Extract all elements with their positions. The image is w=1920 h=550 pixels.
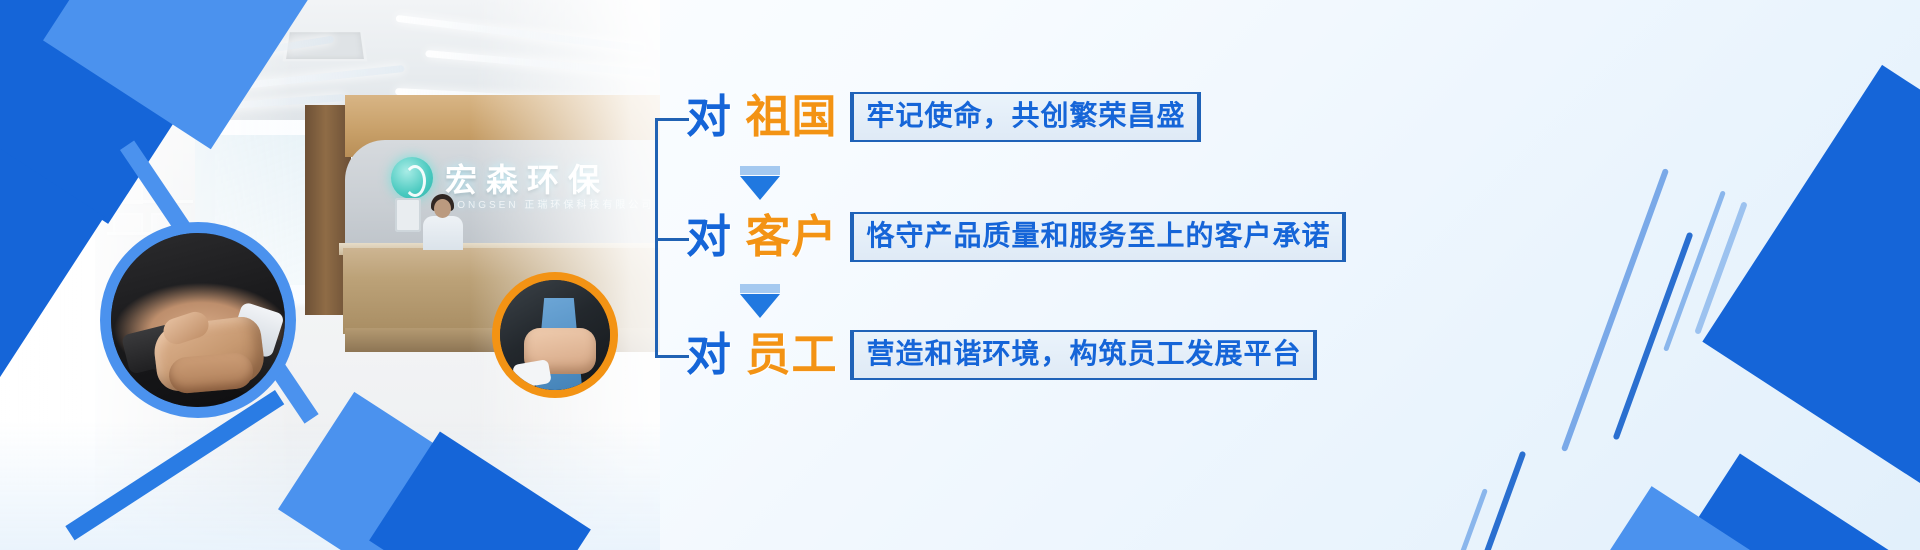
clapping-hands-photo-circle bbox=[492, 272, 618, 398]
philosophy-row-country: 对 祖国 牢记使命，共创繁荣昌盛 bbox=[686, 92, 1201, 142]
photo-collage: 宏森环保 HONGSEN 正瑞环保科技有限公司 bbox=[0, 0, 660, 550]
receptionist-head bbox=[434, 199, 451, 218]
row-prefix-label: 对 bbox=[686, 91, 732, 142]
globe-leaf-logo-icon bbox=[391, 157, 433, 199]
bracket-branch bbox=[655, 238, 689, 241]
handshake-photo-circle bbox=[100, 222, 296, 418]
philosophy-rows: 对 祖国 牢记使命，共创繁荣昌盛 对 客户 恪守产品质量和服务至上的客户承诺 对… bbox=[686, 0, 1920, 550]
row-statement-customer: 恪守产品质量和服务至上的客户承诺 bbox=[850, 212, 1346, 262]
receptionist-body bbox=[423, 216, 463, 250]
row-subject-label: 客户 bbox=[746, 211, 838, 262]
desk-monitor bbox=[395, 198, 421, 232]
row-statement-employee: 营造和谐环境，构筑员工发展平台 bbox=[850, 330, 1317, 380]
row-subject-label: 员工 bbox=[746, 329, 838, 380]
row-prefix-label: 对 bbox=[686, 329, 732, 380]
row-subject-label: 祖国 bbox=[746, 91, 838, 142]
row-heading-country: 对 祖国 bbox=[686, 94, 838, 139]
tree-bracket-connector bbox=[655, 118, 689, 358]
row-statement-country: 牢记使命，共创繁荣昌盛 bbox=[850, 92, 1201, 142]
philosophy-row-customer: 对 客户 恪守产品质量和服务至上的客户承诺 bbox=[686, 212, 1346, 262]
bracket-branch bbox=[655, 355, 689, 358]
philosophy-row-employee: 对 员工 营造和谐环境，构筑员工发展平台 bbox=[686, 330, 1317, 380]
row-heading-customer: 对 客户 bbox=[686, 214, 838, 259]
company-philosophy-banner: 宏森环保 HONGSEN 正瑞环保科技有限公司 bbox=[0, 0, 1920, 550]
row-prefix-label: 对 bbox=[686, 211, 732, 262]
bracket-branch bbox=[655, 118, 689, 121]
row-heading-employee: 对 员工 bbox=[686, 332, 838, 377]
